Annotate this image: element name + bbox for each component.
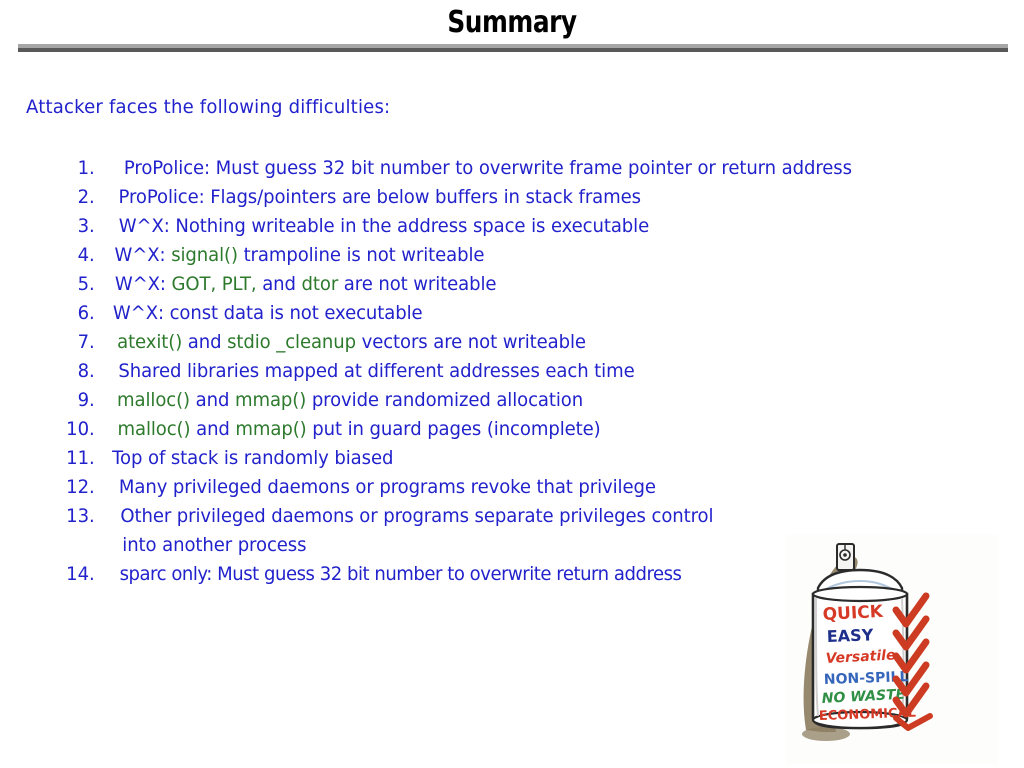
list-item-text: ProPolice: Flags/pointers are below buff… xyxy=(110,186,641,208)
list-item: 4.W^X: signal() trampoline is not writea… xyxy=(48,244,1008,273)
text-segment-2: signal() xyxy=(171,244,238,266)
list-item-text: Many privileged daemons or programs revo… xyxy=(110,476,655,498)
text-segment-1: Shared libraries mapped at different add… xyxy=(118,360,634,382)
list-item-number: 1. xyxy=(49,157,95,179)
list-item-text: W^X: signal() trampoline is not writeabl… xyxy=(106,244,484,266)
list-item-text: W^X: Nothing writeable in the address sp… xyxy=(110,215,649,237)
text-segment-1: malloc() xyxy=(117,418,190,440)
text-segment-1: Many privileged daemons or programs revo… xyxy=(119,476,656,498)
list-item-text: Shared libraries mapped at different add… xyxy=(110,360,635,382)
list-item-number: 10. xyxy=(49,418,95,440)
text-segment-3: mmap() xyxy=(235,418,306,440)
list-item-number: 11. xyxy=(49,447,95,469)
list-item: 9.malloc() and mmap() provide randomized… xyxy=(48,389,1008,418)
list-item-number: 6. xyxy=(49,302,95,324)
list-item-text: Other privileged daemons or programs sep… xyxy=(112,505,714,527)
text-segment-2: GOT, PLT, xyxy=(172,273,257,295)
text-segment-1: W^X: const data is not executable xyxy=(113,302,423,324)
list-item: 5.W^X: GOT, PLT, and dtor are not writea… xyxy=(48,273,1008,302)
intro-text: Attacker faces the following difficultie… xyxy=(26,96,390,118)
list-item: 2.ProPolice: Flags/pointers are below bu… xyxy=(48,186,1008,215)
text-segment-1: Top of stack is randomly biased xyxy=(112,447,393,469)
text-segment-2: and xyxy=(190,418,235,440)
text-segment-1: ProPolice: Must guess 32 bit number to o… xyxy=(124,157,852,179)
text-segment-1: sparc only: Must guess 32 bit number to … xyxy=(120,563,682,585)
list-item-continuation-text: into another process xyxy=(101,534,306,556)
text-segment-4: provide randomized allocation xyxy=(306,389,583,411)
list-item: 12.Many privileged daemons or programs r… xyxy=(48,476,1008,505)
title-divider xyxy=(18,44,1008,52)
text-segment-1: malloc() xyxy=(117,389,190,411)
list-item: 11.Top of stack is randomly biased xyxy=(48,447,1008,476)
spray-can-illustration: QUICK EASY Versatile NON-SPILL NO WASTE … xyxy=(786,534,998,764)
text-segment-2: and xyxy=(190,389,235,411)
list-item-number: 12. xyxy=(49,476,95,498)
text-segment-1: ProPolice: Flags/pointers are below buff… xyxy=(119,186,641,208)
list-item: 10.malloc() and mmap() put in guard page… xyxy=(48,418,1008,447)
text-segment-3: mmap() xyxy=(235,389,306,411)
list-item-number: 4. xyxy=(49,244,95,266)
list-item: 3.W^X: Nothing writeable in the address … xyxy=(48,215,1008,244)
text-segment-1: Other privileged daemons or programs sep… xyxy=(120,505,713,527)
text-segment-4: put in guard pages (incomplete) xyxy=(307,418,601,440)
list-item-text: sparc only: Must guess 32 bit number to … xyxy=(111,563,681,585)
text-segment-4: vectors are not writeable xyxy=(356,331,586,353)
svg-text:EASY: EASY xyxy=(826,625,873,646)
list-item-text: atexit() and stdio _cleanup vectors are … xyxy=(109,331,586,353)
difficulty-list: 1.ProPolice: Must guess 32 bit number to… xyxy=(48,157,1008,592)
list-item: 13.Other privileged daemons or programs … xyxy=(48,505,1008,534)
list-item-number: 9. xyxy=(49,389,95,411)
text-segment-1: atexit() xyxy=(117,331,182,353)
text-segment-3: trampoline is not writeable xyxy=(238,244,485,266)
list-item: 6.W^X: const data is not executable xyxy=(48,302,1008,331)
list-item-number: 8. xyxy=(49,360,95,382)
list-item-number: 13. xyxy=(49,505,95,527)
text-segment-1: W^X: xyxy=(115,273,172,295)
list-item-text: W^X: GOT, PLT, and dtor are not writeabl… xyxy=(106,273,496,295)
list-item-number: 14. xyxy=(49,563,95,585)
list-item-text: ProPolice: Must guess 32 bit number to o… xyxy=(115,157,852,179)
title-divider-shadow xyxy=(18,48,1008,52)
list-item-number: 3. xyxy=(49,215,95,237)
list-item-text: malloc() and mmap() provide randomized a… xyxy=(108,389,583,411)
text-segment-5: are not writeable xyxy=(338,273,496,295)
list-item: 8.Shared libraries mapped at different a… xyxy=(48,360,1008,389)
text-segment-3: stdio _cleanup xyxy=(227,331,356,353)
text-segment-1: W^X: Nothing writeable in the address sp… xyxy=(119,215,649,237)
text-segment-3: and xyxy=(257,273,302,295)
list-item: 1.ProPolice: Must guess 32 bit number to… xyxy=(48,157,1008,186)
list-item: 7.atexit() and stdio _cleanup vectors ar… xyxy=(48,331,1008,360)
page-title: Summary xyxy=(41,4,983,42)
list-item-text: W^X: const data is not executable xyxy=(104,302,422,324)
list-item-number: 7. xyxy=(49,331,95,353)
can-nozzle xyxy=(837,544,854,570)
text-segment-1: W^X: xyxy=(115,244,172,266)
text-segment-1: into another process xyxy=(122,534,306,556)
list-item-number: 2. xyxy=(49,186,95,208)
svg-text:QUICK: QUICK xyxy=(822,602,884,625)
list-item-text: Top of stack is randomly biased xyxy=(104,447,394,469)
list-item-number: 5. xyxy=(49,273,95,295)
text-segment-4: dtor xyxy=(302,273,339,295)
text-segment-2: and xyxy=(182,331,227,353)
list-item-text: malloc() and mmap() put in guard pages (… xyxy=(109,418,601,440)
